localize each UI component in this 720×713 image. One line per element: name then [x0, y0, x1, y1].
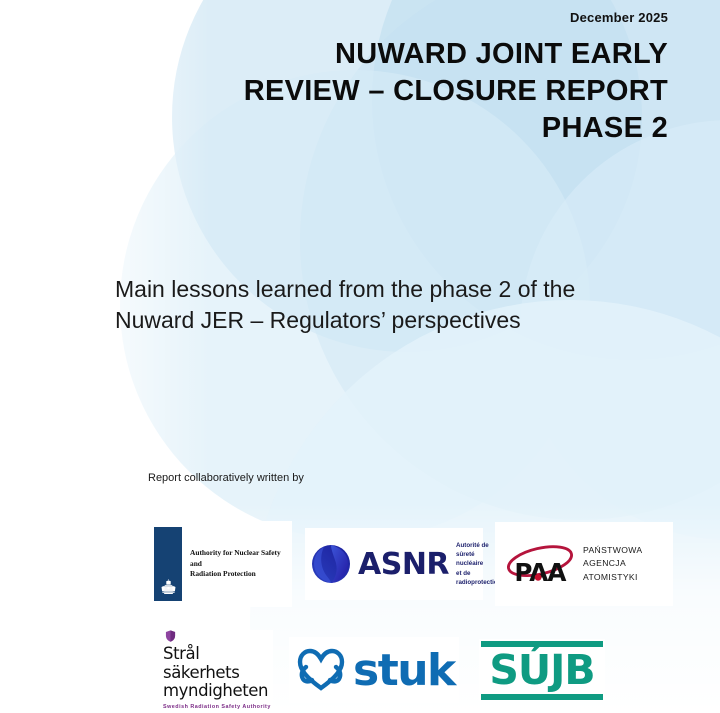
- paa-tagline-line-1: PAŃSTWOWA: [583, 544, 673, 557]
- ssm-name: Strål säkerhets myndigheten: [163, 645, 268, 701]
- logo-anvs: Authority for Nuclear Safety and Radiati…: [146, 521, 292, 607]
- page-title-line-3: PHASE 2: [188, 110, 668, 147]
- logo-stuk: stuk: [289, 637, 459, 703]
- ssm-name-line-1: Strål: [163, 645, 268, 664]
- paa-tagline: PAŃSTWOWA AGENCJA ATOMISTYKI: [583, 544, 673, 584]
- logo-ssm: Strål säkerhets myndigheten Swedish Radi…: [155, 630, 273, 710]
- attribution-text: Report collaboratively written by: [148, 472, 304, 484]
- asnr-circle-leaf-icon: [311, 544, 351, 584]
- svg-text:PAA: PAA: [514, 558, 566, 587]
- asnr-wordmark: ASNR: [358, 547, 449, 582]
- page-subtitle-line-1: Main lessons learned from the phase 2 of…: [115, 274, 675, 305]
- logo-asnr: ASNR Autorité de sûreté nucléaire et de …: [305, 528, 483, 600]
- ssm-name-line-3: myndigheten: [163, 682, 268, 701]
- anvs-name: Authority for Nuclear Safety and Radiati…: [190, 548, 286, 580]
- dutch-coat-of-arms-icon: [159, 578, 178, 596]
- logo-row-bottom: Strål säkerhets myndigheten Swedish Radi…: [155, 630, 605, 710]
- page-subtitle: Main lessons learned from the phase 2 of…: [115, 274, 675, 335]
- page-title-line-1: NUWARD JOINT EARLY: [188, 36, 668, 73]
- ssm-name-line-2: säkerhets: [163, 664, 268, 683]
- logo-row-top: Authority for Nuclear Safety and Radiati…: [146, 521, 673, 607]
- shield-icon: [163, 630, 178, 642]
- publication-date: December 2025: [570, 10, 668, 25]
- paa-orbit-ellipse-icon: PAA: [503, 541, 577, 587]
- document-cover-page: December 2025 NUWARD JOINT EARLY REVIEW …: [0, 0, 720, 713]
- page-title: NUWARD JOINT EARLY REVIEW – CLOSURE REPO…: [188, 36, 668, 147]
- logo-paa: PAA PAŃSTWOWA AGENCJA ATOMISTYKI: [495, 522, 673, 606]
- anvs-navy-bar: [154, 527, 182, 601]
- stuk-wordmark: stuk: [353, 645, 455, 696]
- paa-tagline-line-2: AGENCJA ATOMISTYKI: [583, 557, 673, 584]
- sujb-wordmark: SÚJB: [481, 650, 603, 691]
- sujb-rule-bottom: [481, 694, 603, 700]
- ssm-tagline: Swedish Radiation Safety Authority: [163, 704, 271, 710]
- stuk-heart-atom-icon: [297, 648, 345, 692]
- page-subtitle-line-2: Nuward JER – Regulators’ perspectives: [115, 305, 675, 336]
- anvs-name-line-1: Authority for Nuclear Safety and: [190, 548, 286, 569]
- page-title-line-2: REVIEW – CLOSURE REPORT: [188, 73, 668, 110]
- anvs-name-line-2: Radiation Protection: [190, 569, 286, 580]
- logo-sujb: SÚJB: [479, 639, 605, 701]
